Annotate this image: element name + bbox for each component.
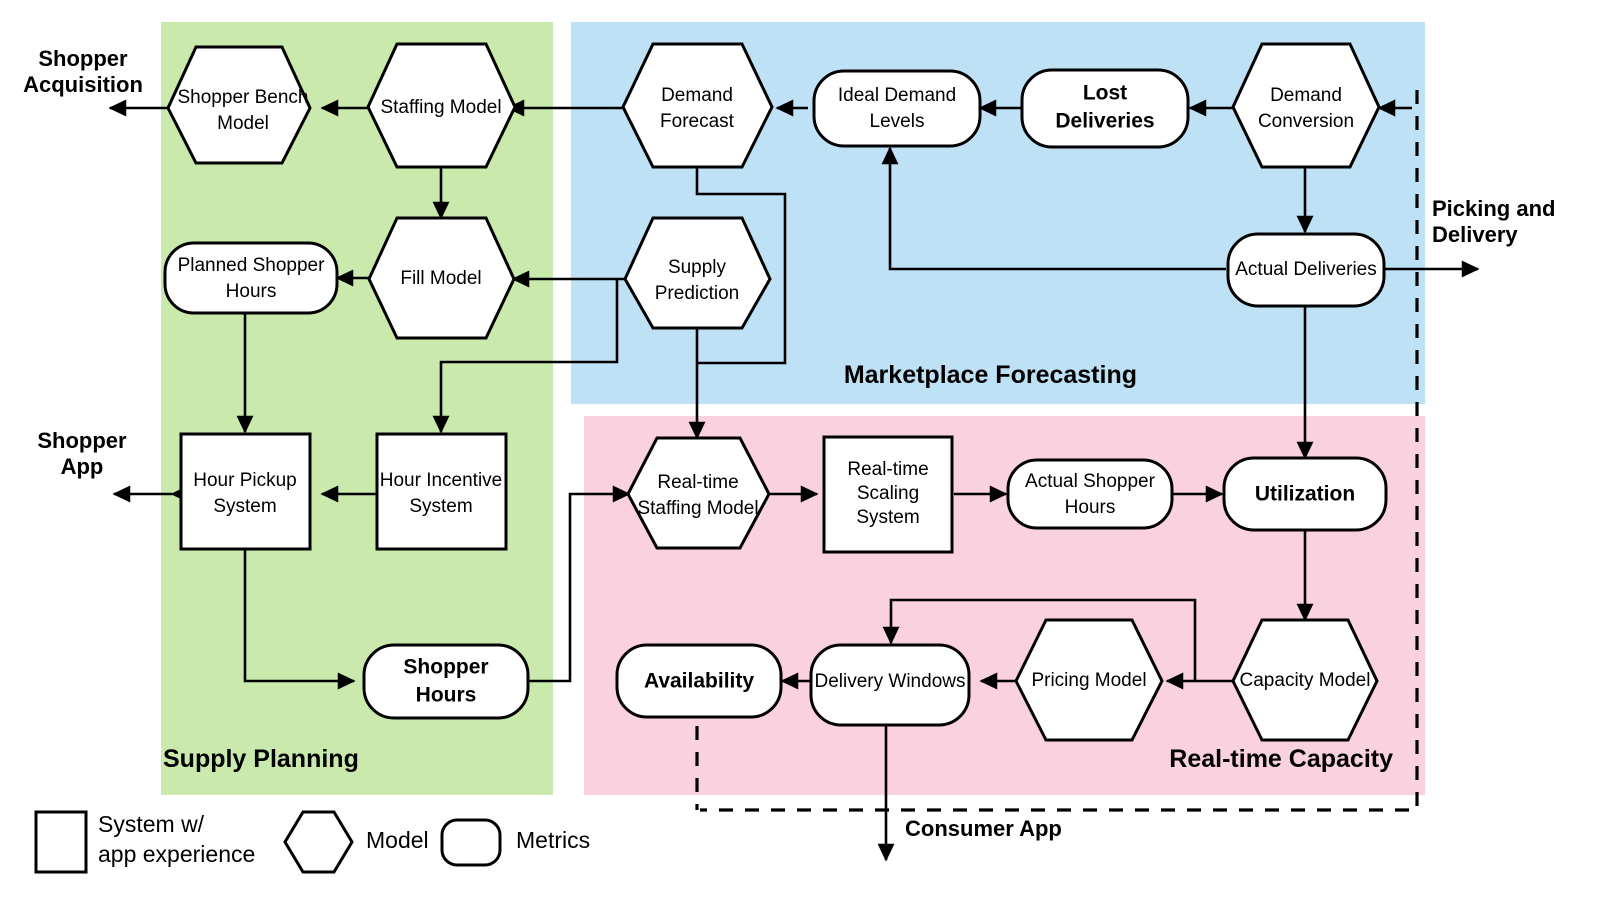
legend-metrics-label: Metrics xyxy=(516,827,590,853)
architecture-diagram: Shopper Bench Model Staffing Model Deman… xyxy=(0,0,1600,913)
node-delivery-windows[interactable]: Delivery Windows xyxy=(811,645,969,725)
node-fill-model-line1: Fill Model xyxy=(400,268,481,289)
node-realtime-staffing-model-line1: Real-time xyxy=(657,472,738,493)
legend-model-label: Model xyxy=(366,827,429,853)
node-realtime-scaling-system[interactable]: Real-time Scaling System xyxy=(824,437,952,552)
node-realtime-scaling-system-line1: Real-time xyxy=(847,459,928,480)
label-consumer-app: Consumer App xyxy=(905,816,1062,841)
node-capacity-model[interactable]: Capacity Model xyxy=(1233,620,1377,740)
node-shopper-hours[interactable]: Shopper Hours xyxy=(364,645,528,718)
node-hour-pickup-system-line2: System xyxy=(213,496,276,517)
node-lost-deliveries[interactable]: Lost Deliveries xyxy=(1022,70,1188,147)
node-demand-forecast-line2: Forecast xyxy=(660,111,735,132)
node-shopper-bench-model-line1: Shopper Bench xyxy=(178,87,309,108)
node-demand-forecast-line1: Demand xyxy=(661,85,733,106)
node-planned-shopper-hours-line1: Planned Shopper xyxy=(178,255,326,276)
label-shopper-acquisition-line1: Shopper xyxy=(38,46,128,71)
node-fill-model[interactable]: Fill Model xyxy=(369,218,514,338)
legend-item-metrics: Metrics xyxy=(442,820,590,865)
label-shopper-acquisition-line2: Acquisition xyxy=(23,72,143,97)
node-actual-shopper-hours-line1: Actual Shopper xyxy=(1025,471,1156,492)
label-shopper-app-line2: App xyxy=(61,454,104,479)
group-label-realtime-capacity: Real-time Capacity xyxy=(1169,745,1393,773)
diagram-canvas: Shopper Bench Model Staffing Model Deman… xyxy=(0,0,1600,913)
legend-system-line2: app experience xyxy=(98,841,255,867)
node-realtime-staffing-model-line2: Staffing Model xyxy=(637,498,758,519)
label-picking-and-delivery-line1: Picking and xyxy=(1432,196,1555,221)
node-realtime-scaling-system-line2: Scaling xyxy=(857,483,919,504)
group-label-marketplace-forecasting: Marketplace Forecasting xyxy=(844,361,1137,389)
node-hour-incentive-system-line2: System xyxy=(409,496,472,517)
node-lost-deliveries-line2: Deliveries xyxy=(1055,110,1154,133)
node-shopper-hours-line1: Shopper xyxy=(403,656,488,679)
node-supply-prediction-line1: Supply xyxy=(668,257,727,278)
node-ideal-demand-levels-line2: Levels xyxy=(870,111,925,132)
node-capacity-model-line1: Capacity Model xyxy=(1240,670,1371,691)
node-supply-prediction[interactable]: Supply Prediction xyxy=(625,218,770,328)
node-hour-pickup-system[interactable]: Hour Pickup System xyxy=(181,434,310,549)
node-lost-deliveries-line1: Lost xyxy=(1083,82,1127,105)
node-demand-conversion-line1: Demand xyxy=(1270,85,1342,106)
node-shopper-hours-line2: Hours xyxy=(416,684,477,707)
node-realtime-scaling-system-line3: System xyxy=(856,507,919,528)
node-utilization[interactable]: Utilization xyxy=(1224,458,1386,530)
node-shopper-bench-model[interactable]: Shopper Bench Model xyxy=(168,47,310,163)
node-staffing-model[interactable]: Staffing Model xyxy=(368,44,515,167)
node-ideal-demand-levels-line1: Ideal Demand xyxy=(838,85,956,106)
node-hour-incentive-system[interactable]: Hour Incentive System xyxy=(377,434,506,549)
node-pricing-model-line1: Pricing Model xyxy=(1031,670,1146,691)
node-demand-conversion-line2: Conversion xyxy=(1258,111,1354,132)
node-planned-shopper-hours[interactable]: Planned Shopper Hours xyxy=(165,243,337,313)
node-demand-conversion[interactable]: Demand Conversion xyxy=(1233,44,1379,167)
label-shopper-app-line1: Shopper xyxy=(37,428,127,453)
node-pricing-model[interactable]: Pricing Model xyxy=(1016,620,1162,740)
node-actual-deliveries[interactable]: Actual Deliveries xyxy=(1228,234,1384,306)
label-picking-and-delivery-line2: Delivery xyxy=(1432,222,1518,247)
node-availability[interactable]: Availability xyxy=(617,645,781,717)
node-shopper-bench-model-line2: Model xyxy=(217,113,269,134)
node-demand-forecast[interactable]: Demand Forecast xyxy=(623,44,772,167)
node-actual-shopper-hours-line2: Hours xyxy=(1065,497,1116,518)
node-actual-deliveries-line1: Actual Deliveries xyxy=(1235,259,1377,280)
node-planned-shopper-hours-line2: Hours xyxy=(226,281,277,302)
node-realtime-staffing-model[interactable]: Real-time Staffing Model xyxy=(628,438,769,548)
node-utilization-line1: Utilization xyxy=(1255,483,1355,506)
legend-system-line1: System w/ xyxy=(98,811,205,837)
node-supply-prediction-line2: Prediction xyxy=(655,283,740,304)
node-staffing-model-line1: Staffing Model xyxy=(380,97,501,118)
legend-item-model: Model xyxy=(285,812,429,872)
node-hour-incentive-system-line1: Hour Incentive xyxy=(380,470,503,491)
node-hour-pickup-system-line1: Hour Pickup xyxy=(193,470,297,491)
node-ideal-demand-levels[interactable]: Ideal Demand Levels xyxy=(814,71,980,146)
legend-item-system: System w/ app experience xyxy=(36,811,255,872)
node-delivery-windows-line1: Delivery Windows xyxy=(815,671,966,692)
group-label-supply-planning: Supply Planning xyxy=(163,745,359,773)
node-availability-line1: Availability xyxy=(644,670,754,693)
node-actual-shopper-hours[interactable]: Actual Shopper Hours xyxy=(1008,460,1172,528)
legend: System w/ app experience Model Metrics xyxy=(36,811,590,872)
